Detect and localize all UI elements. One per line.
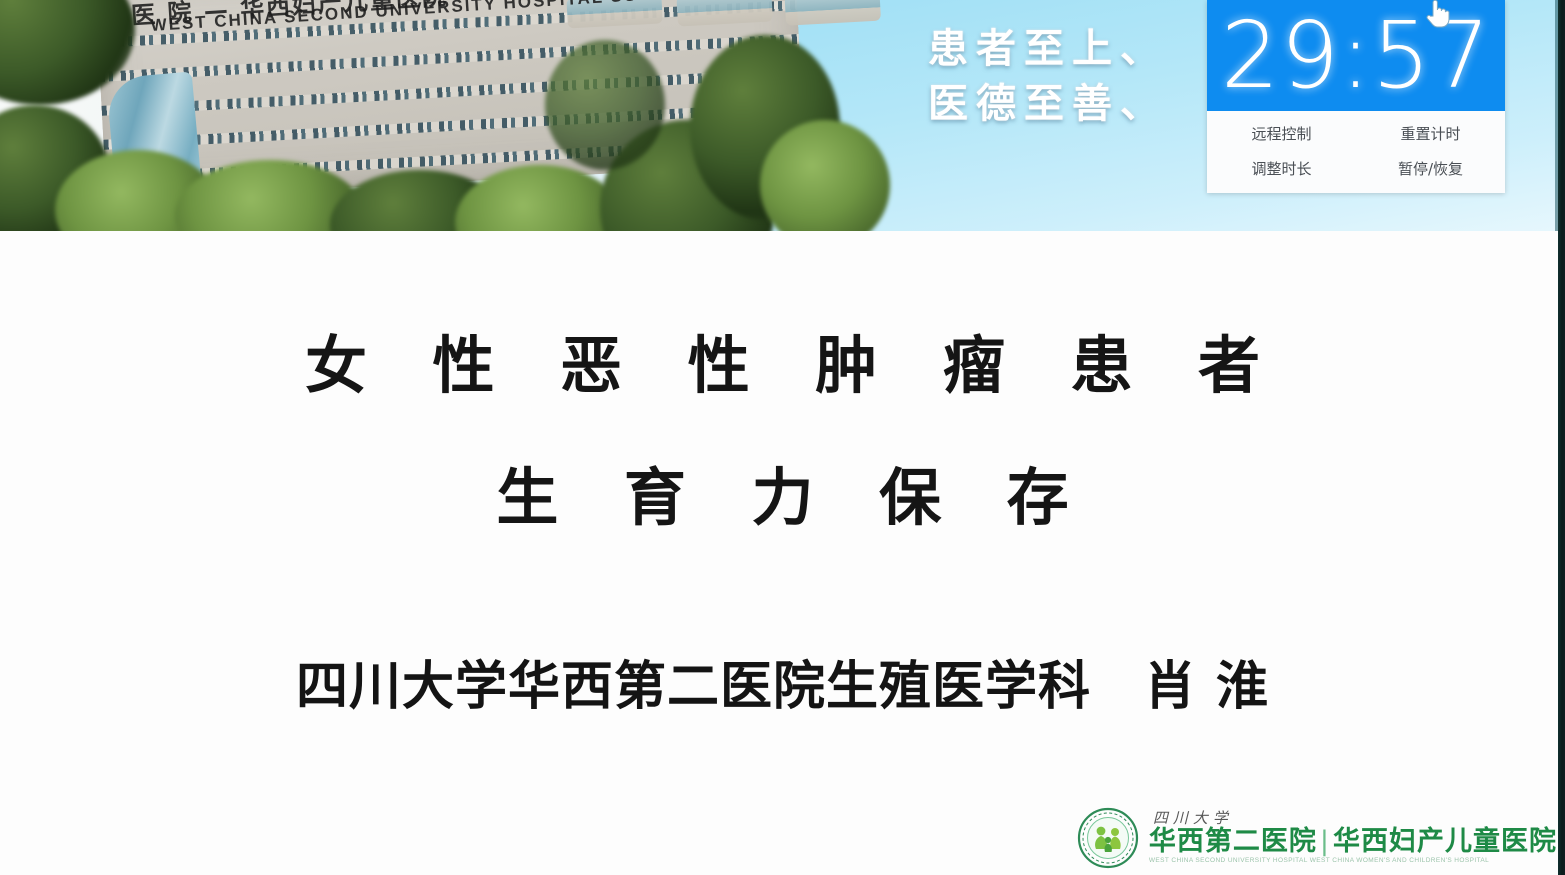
window-right-edge — [1558, 0, 1565, 875]
timer-button-remote-control[interactable]: 远程控制 — [1207, 123, 1356, 144]
timer-controls: 远程控制 重置计时 调整时长 暂停/恢复 — [1207, 111, 1505, 193]
slide-author-affiliation: 四川大学华西第二医院生殖医学科 肖 淮 — [0, 652, 1565, 722]
hospital-logo-text: 四川大学 华西第二医院|华西妇产儿童医院 WEST CHINA SECOND U… — [1149, 811, 1557, 865]
countdown-timer-widget[interactable]: 29:57 远程控制 重置计时 调整时长 暂停/恢复 — [1207, 0, 1505, 193]
slide-title-line-1: 女 性 恶 性 肿 瘤 患 者 — [0, 300, 1565, 432]
hospital-slogan-line-2: 医德至善、 — [928, 77, 1168, 132]
timer-button-reset-timer[interactable]: 重置计时 — [1356, 123, 1505, 144]
hospital-slogan: 患者至上、 医德至善、 — [928, 22, 1168, 132]
timer-button-adjust-duration[interactable]: 调整时长 — [1207, 158, 1356, 179]
timer-display: 29:57 — [1207, 0, 1505, 111]
logo-english-subtitle: WEST CHINA SECOND UNIVERSITY HOSPITAL WE… — [1149, 858, 1557, 864]
hospital-slogan-line-1: 患者至上、 — [928, 22, 1168, 77]
timer-value: 29:57 — [1221, 10, 1491, 102]
screen-root: 女 性 恶 性 肿 瘤 患 者 生 育 力 保 存 四川大学华西第二医院生殖医学… — [0, 0, 1565, 875]
logo-hospital-primary: 华西第二医院 — [1149, 826, 1317, 857]
hospital-logo: 四川大学 华西第二医院|华西妇产儿童医院 WEST CHINA SECOND U… — [1077, 807, 1557, 869]
camera-video-feed: 医 院 — 华西妇产儿童医院 WEST CHINA SECOND UNIVERS… — [0, 0, 1558, 231]
hospital-family-emblem-icon — [1077, 807, 1139, 869]
logo-hospital-names: 华西第二医院|华西妇产儿童医院 — [1149, 828, 1557, 855]
timer-button-pause-resume[interactable]: 暂停/恢复 — [1356, 158, 1505, 179]
slide-title-line-2: 生 育 力 保 存 — [0, 432, 1565, 564]
slide-title: 女 性 恶 性 肿 瘤 患 者 生 育 力 保 存 — [0, 300, 1565, 564]
logo-hospital-secondary: 华西妇产儿童医院 — [1333, 826, 1557, 857]
logo-separator: | — [1317, 826, 1333, 857]
logo-university-name: 四川大学 — [1153, 811, 1557, 826]
